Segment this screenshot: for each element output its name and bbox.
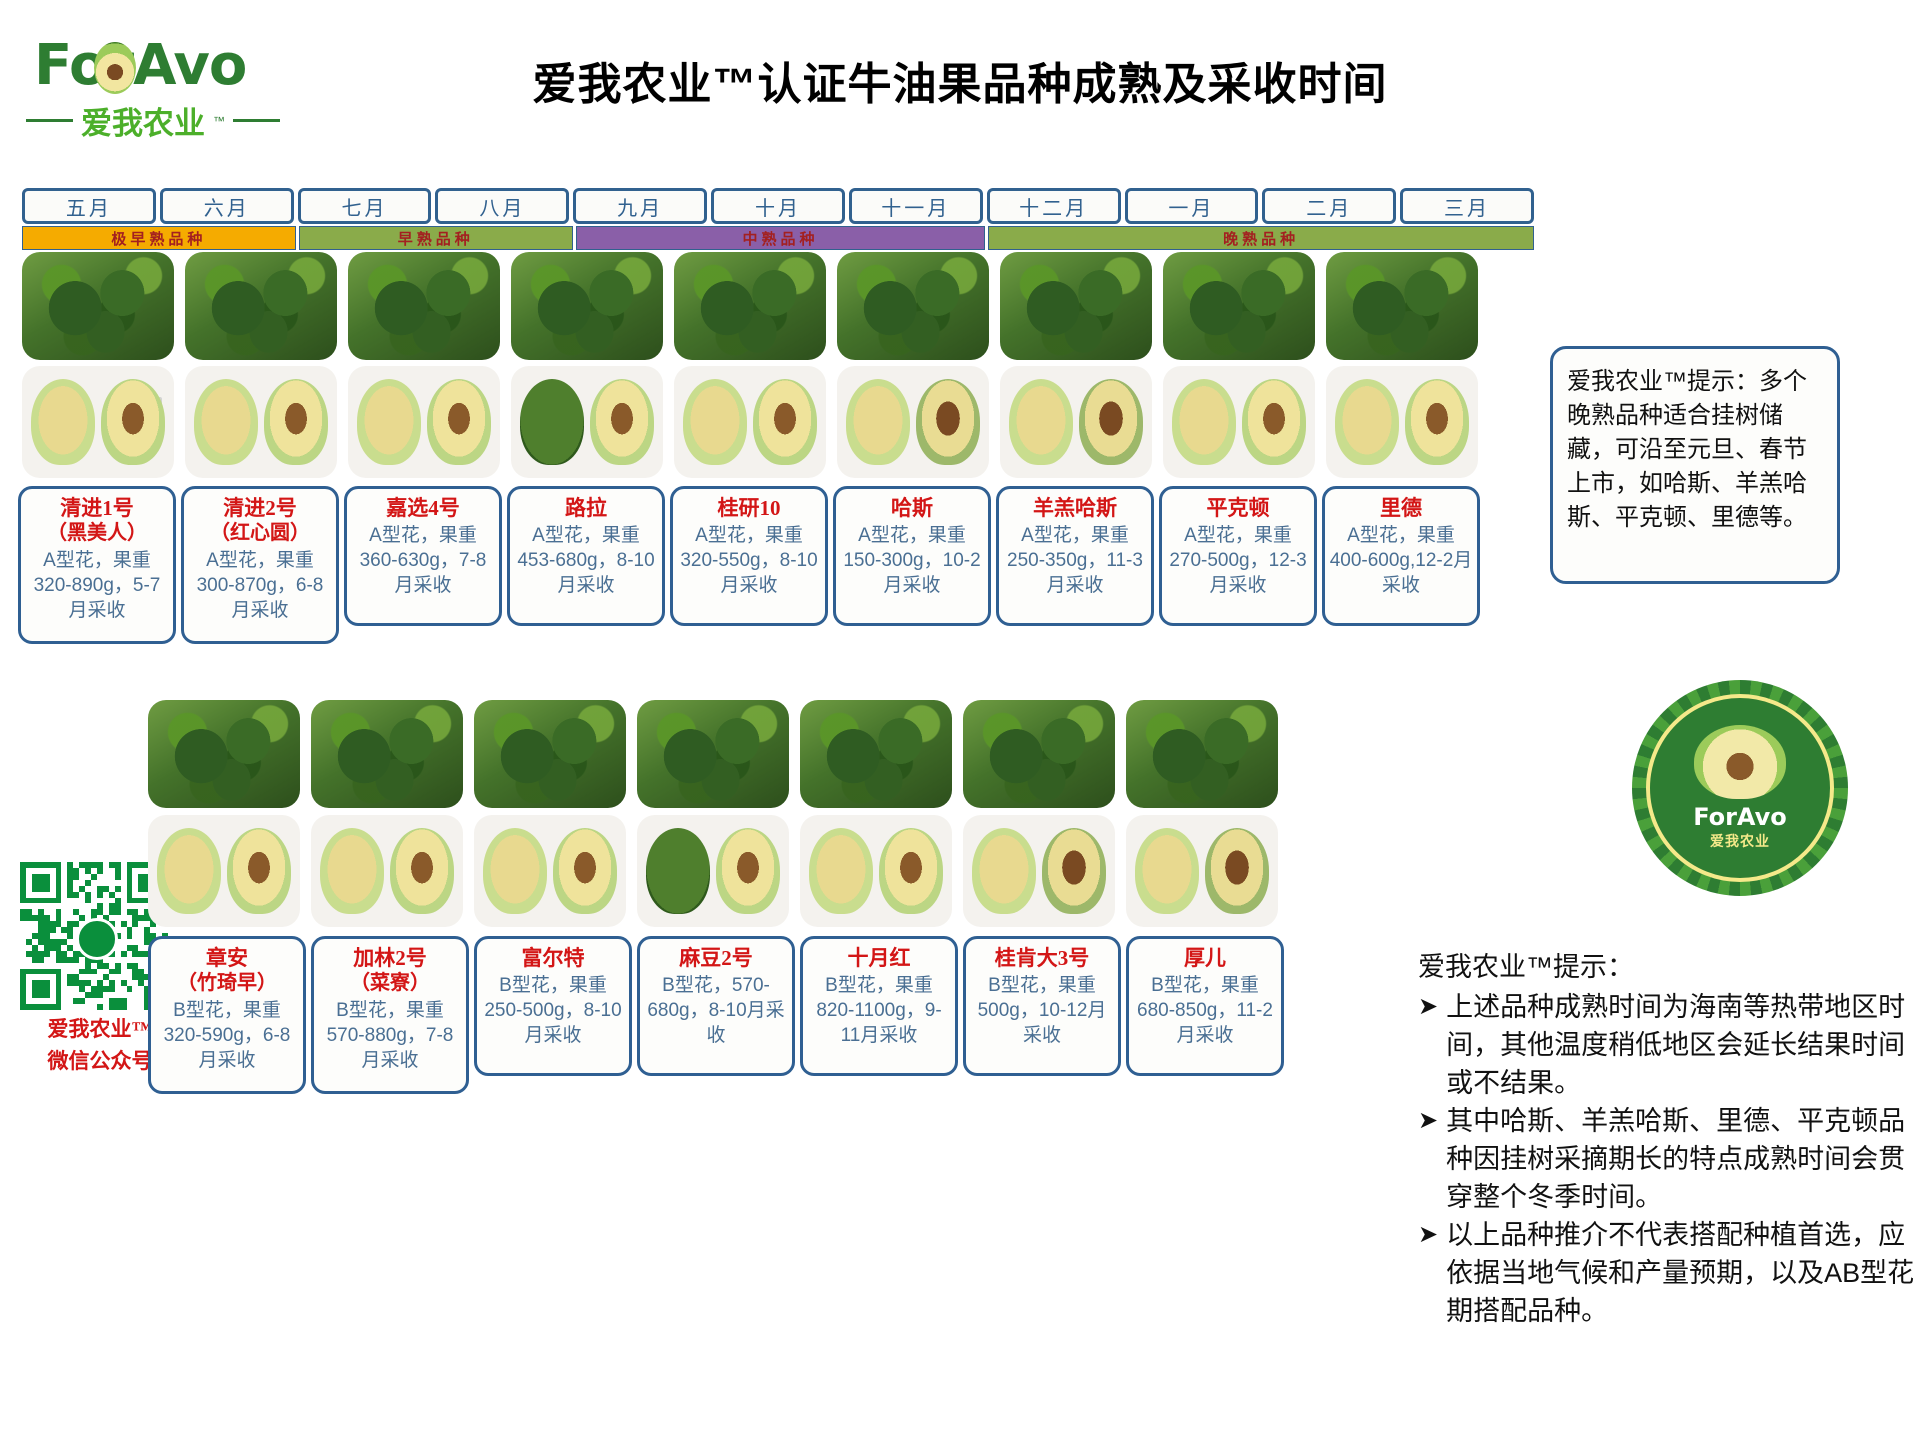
- month-cell-4: 八月: [435, 188, 569, 224]
- qr-module: [91, 969, 97, 975]
- variety-description: B型花，果重570-880g，7-8月采收: [318, 998, 462, 1073]
- variety-name: 桂研10: [677, 495, 821, 521]
- variety-name: 清进1号: [25, 495, 169, 521]
- qr-module: [97, 992, 103, 998]
- qr-module: [56, 862, 62, 903]
- qr-module: [127, 986, 133, 992]
- fruit-photo-8: [1163, 366, 1315, 478]
- variety-alias: （黑美人）: [25, 521, 169, 546]
- tip-bottom-heading: 爱我农业™提示：: [1418, 948, 1918, 986]
- qr-module: [67, 933, 73, 939]
- variety-card[interactable]: 桂肯大3号B型花，果重500g，10-12月采收: [963, 936, 1121, 1076]
- variety-card[interactable]: 清进1号（黑美人）A型花，果重320-890g，5-7月采收: [18, 486, 176, 644]
- tree-photo-7: [1000, 252, 1152, 360]
- qr-module: [73, 957, 79, 963]
- variety-description: A型花，果重453-680g，8-10月采收: [514, 523, 658, 598]
- tree-photo-8: [1163, 252, 1315, 360]
- qr-module: [127, 933, 133, 939]
- variety-card[interactable]: 里德A型花，果重400-600g,12-2月采收: [1322, 486, 1480, 626]
- variety-alias: （菜寮）: [318, 971, 462, 996]
- maturity-band-4: 晚熟品种: [988, 226, 1534, 250]
- variety-name: 羊羔哈斯: [1003, 495, 1147, 521]
- brand-logo: ForAvo 爱我农业 ™: [20, 36, 280, 144]
- tip-bottom-list: ➤上述品种成熟时间为海南等热带地区时间，其他温度稍低地区会延长结果时间或不结果。…: [1418, 988, 1918, 1330]
- qr-code-image: [20, 862, 168, 1010]
- qr-module: [127, 862, 133, 903]
- qr-module: [121, 951, 127, 957]
- variety-description: A型花，果重360-630g，7-8月采收: [351, 523, 495, 598]
- tree-photo-7: [1126, 700, 1278, 808]
- variety-description: A型花，果重320-550g，8-10月采收: [677, 523, 821, 598]
- logo-rule-left: [26, 119, 73, 122]
- month-cell-10: 二月: [1262, 188, 1396, 224]
- tip-bullet-text: 以上品种推介不代表搭配种植首选，应依据当地气候和产量预期，以及AB型花期搭配品种…: [1446, 1216, 1918, 1330]
- variety-card[interactable]: 富尔特B型花，果重250-500g，8-10月采收: [474, 936, 632, 1076]
- tip-box-bottom: 爱我农业™提示： ➤上述品种成熟时间为海南等热带地区时间，其他温度稍低地区会延长…: [1418, 948, 1918, 1330]
- variety-name: 路拉: [514, 495, 658, 521]
- qr-module: [73, 921, 79, 927]
- variety-name: 哈斯: [840, 495, 984, 521]
- fruit-photo-3: [474, 815, 626, 927]
- qr-center-logo: [76, 918, 118, 960]
- tree-photo-5: [800, 700, 952, 808]
- fruit-photo-2: [311, 815, 463, 927]
- qr-module: [73, 892, 79, 898]
- qr-module: [132, 921, 138, 927]
- seal-avocado-icon: [1694, 725, 1786, 799]
- qr-module: [32, 874, 50, 892]
- variety-name: 平克顿: [1166, 495, 1310, 521]
- variety-description: B型花，570-680g，8-10月采收: [644, 973, 788, 1048]
- variety-name: 厚儿: [1133, 945, 1277, 971]
- qr-module: [115, 969, 121, 975]
- page-header: ForAvo 爱我农业 ™ 爱我农业™认证牛油果品种成熟及采收时间: [0, 0, 1920, 170]
- brand-chinese: 爱我农业: [81, 98, 205, 143]
- variety-alias: （竹琦早）: [155, 971, 299, 996]
- row1-variety-card-row: 清进1号（黑美人）A型花，果重320-890g，5-7月采收清进2号（红心圆）A…: [18, 486, 1480, 644]
- fruit-photo-7: [1000, 366, 1152, 478]
- month-cell-1: 五月: [22, 188, 156, 224]
- month-cell-6: 十月: [711, 188, 845, 224]
- page-title: 爱我农业™认证牛油果品种成熟及采收时间: [380, 48, 1540, 112]
- tree-photo-6: [837, 252, 989, 360]
- variety-description: B型花，果重820-1100g，9-11月采收: [807, 973, 951, 1048]
- month-cell-5: 九月: [573, 188, 707, 224]
- bullet-arrow-icon: ➤: [1418, 988, 1438, 1026]
- month-header-row: 五月六月七月八月九月十月十一月十二月一月二月三月: [22, 188, 1534, 224]
- qr-module: [44, 951, 50, 957]
- variety-description: A型花，果重320-890g，5-7月采收: [25, 548, 169, 623]
- seal-inner: ForAvo 爱我农业: [1646, 694, 1834, 882]
- qr-module: [97, 1004, 103, 1010]
- maturity-band-3: 中熟品种: [576, 226, 986, 250]
- logo-rule-right: [233, 119, 280, 122]
- variety-description: A型花，果重270-500g，12-3月采收: [1166, 523, 1310, 598]
- fruit-photo-2: [185, 366, 337, 478]
- variety-name: 加林2号: [318, 945, 462, 971]
- fruit-photo-4: [637, 815, 789, 927]
- variety-card[interactable]: 平克顿A型花，果重270-500g，12-3月采收: [1159, 486, 1317, 626]
- photo-label-heimeiren: 黑美人: [115, 397, 162, 418]
- qr-module: [79, 998, 85, 1004]
- month-cell-8: 十二月: [987, 188, 1121, 224]
- qr-module: [50, 927, 56, 933]
- qr-module: [32, 980, 50, 998]
- tree-photo-3: [348, 252, 500, 360]
- variety-name: 嘉选4号: [351, 495, 495, 521]
- trademark-mark: ™: [213, 114, 225, 128]
- row1-cutfruit-photo-strip: 黑美人: [22, 366, 1478, 478]
- fruit-photo-9: [1326, 366, 1478, 478]
- bullet-arrow-icon: ➤: [1418, 1216, 1438, 1254]
- tip-bullet-item: ➤以上品种推介不代表搭配种植首选，应依据当地气候和产量预期，以及AB型花期搭配品…: [1418, 1216, 1918, 1330]
- fruit-photo-5: [674, 366, 826, 478]
- qr-module: [115, 909, 121, 915]
- fruit-photo-6: [963, 815, 1115, 927]
- variety-card[interactable]: 羊羔哈斯A型花，果重250-350g，11-3月采收: [996, 486, 1154, 626]
- qr-module: [91, 874, 97, 880]
- variety-card[interactable]: 章安（竹琦早）B型花，果重320-590g，6-8月采收: [148, 936, 306, 1094]
- certification-seal: ForAvo 爱我农业: [1632, 680, 1848, 896]
- variety-name: 桂肯大3号: [970, 945, 1114, 971]
- month-cell-3: 七月: [298, 188, 432, 224]
- qr-module: [85, 880, 91, 886]
- variety-card[interactable]: 十月红B型花，果重820-1100g，9-11月采收: [800, 936, 958, 1076]
- row2-variety-card-row: 章安（竹琦早）B型花，果重320-590g，6-8月采收加林2号（菜寮）B型花，…: [148, 936, 1284, 1094]
- qr-module: [20, 969, 26, 1010]
- tree-photo-3: [474, 700, 626, 808]
- variety-description: B型花，果重500g，10-12月采收: [970, 973, 1114, 1048]
- seal-brand-chinese: 爱我农业: [1710, 831, 1770, 851]
- tip-box-top: 爱我农业™提示：多个晚熟品种适合挂树储藏，可沿至元旦、春节上市，如哈斯、羊羔哈斯…: [1550, 346, 1840, 584]
- fruit-photo-7: [1126, 815, 1278, 927]
- qr-module: [97, 892, 103, 898]
- brand-sub: 爱我农业 ™: [20, 98, 280, 143]
- variety-description: B型花，果重320-590g，6-8月采收: [155, 998, 299, 1073]
- month-cell-7: 十一月: [849, 188, 983, 224]
- row1-tree-photo-strip: [22, 252, 1478, 360]
- tree-photo-5: [674, 252, 826, 360]
- month-cell-2: 六月: [160, 188, 294, 224]
- variety-card[interactable]: 加林2号（菜寮）B型花，果重570-880g，7-8月采收: [311, 936, 469, 1094]
- fruit-photo-3: [348, 366, 500, 478]
- variety-name: 麻豆2号: [644, 945, 788, 971]
- variety-name: 里德: [1329, 495, 1473, 521]
- variety-card[interactable]: 嘉选4号A型花，果重360-630g，7-8月采收: [344, 486, 502, 626]
- fruit-photo-1: 黑美人: [22, 366, 174, 478]
- variety-name: 清进2号: [188, 495, 332, 521]
- tip-bullet-item: ➤其中哈斯、羊羔哈斯、里德、平克顿品种因挂树采摘期长的特点成熟时间会贯穿整个冬季…: [1418, 1102, 1918, 1216]
- qr-module: [97, 868, 103, 874]
- variety-card[interactable]: 路拉A型花，果重453-680g，8-10月采收: [507, 486, 665, 626]
- tree-photo-4: [511, 252, 663, 360]
- maturity-band-row: 极早熟品种早熟品种中熟品种晚熟品种: [22, 226, 1534, 250]
- tree-photo-2: [311, 700, 463, 808]
- tree-photo-9: [1326, 252, 1478, 360]
- tree-photo-6: [963, 700, 1115, 808]
- qr-module: [79, 915, 85, 921]
- qr-module: [85, 898, 91, 904]
- variety-name: 章安: [155, 945, 299, 971]
- qr-module: [121, 1004, 127, 1010]
- tip-bullet-text: 上述品种成熟时间为海南等热带地区时间，其他温度稍低地区会延长结果时间或不结果。: [1446, 988, 1918, 1102]
- variety-description: A型花，果重400-600g,12-2月采收: [1329, 523, 1473, 598]
- tip-bullet-text: 其中哈斯、羊羔哈斯、里德、平克顿品种因挂树采摘期长的特点成熟时间会贯穿整个冬季时…: [1446, 1102, 1918, 1216]
- avocado-logo-icon: [94, 42, 136, 94]
- tip-bullet-item: ➤上述品种成熟时间为海南等热带地区时间，其他温度稍低地区会延长结果时间或不结果。: [1418, 988, 1918, 1102]
- tree-photo-1: [148, 700, 300, 808]
- qr-module: [109, 986, 115, 992]
- variety-description: B型花，果重680-850g，11-2月采收: [1133, 973, 1277, 1048]
- bullet-arrow-icon: ➤: [1418, 1102, 1438, 1140]
- qr-module: [20, 862, 26, 903]
- row2-tree-photo-strip: [148, 700, 1278, 808]
- qr-module: [115, 874, 121, 880]
- variety-card[interactable]: 桂研10A型花，果重320-550g，8-10月采收: [670, 486, 828, 626]
- variety-description: A型花，果重300-870g，6-8月采收: [188, 548, 332, 623]
- qr-module: [115, 886, 121, 892]
- maturity-band-1: 极早熟品种: [22, 226, 296, 250]
- tree-photo-1: [22, 252, 174, 360]
- variety-description: A型花，果重150-300g，10-2月采收: [840, 523, 984, 598]
- fruit-photo-6: [837, 366, 989, 478]
- variety-description: A型花，果重250-350g，11-3月采收: [1003, 523, 1147, 598]
- fruit-photo-5: [800, 815, 952, 927]
- variety-card[interactable]: 麻豆2号B型花，570-680g，8-10月采收: [637, 936, 795, 1076]
- variety-card[interactable]: 清进2号（红心圆）A型花，果重300-870g，6-8月采收: [181, 486, 339, 644]
- tree-photo-2: [185, 252, 337, 360]
- variety-description: B型花，果重250-500g，8-10月采收: [481, 973, 625, 1048]
- month-cell-9: 一月: [1125, 188, 1259, 224]
- brand-wordmark: ForAvo: [20, 36, 280, 96]
- qr-module: [38, 957, 44, 963]
- qr-module: [73, 874, 79, 880]
- fruit-photo-1: [148, 815, 300, 927]
- variety-name: 十月红: [807, 945, 951, 971]
- variety-name: 富尔特: [481, 945, 625, 971]
- qr-module: [56, 969, 62, 1010]
- variety-alias: （红心圆）: [188, 521, 332, 546]
- variety-card[interactable]: 厚儿B型花，果重680-850g，11-2月采收: [1126, 936, 1284, 1076]
- tree-photo-4: [637, 700, 789, 808]
- row2-cutfruit-photo-strip: [148, 815, 1278, 927]
- seal-brand-name: ForAvo: [1693, 803, 1787, 831]
- maturity-band-2: 早熟品种: [299, 226, 573, 250]
- month-cell-11: 三月: [1400, 188, 1534, 224]
- fruit-photo-4: [511, 366, 663, 478]
- variety-card[interactable]: 哈斯A型花，果重150-300g，10-2月采收: [833, 486, 991, 626]
